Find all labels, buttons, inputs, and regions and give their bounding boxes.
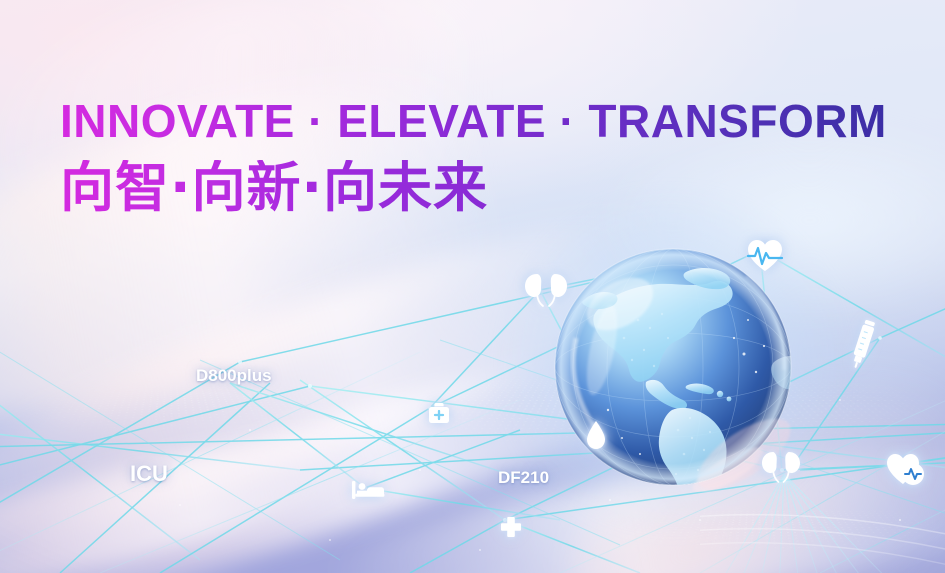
medical-bag-icon (428, 402, 450, 424)
water-drop-icon (585, 420, 607, 450)
promo-banner: INNOVATE · ELEVATE · TRANSFORM 向智·向新·向未来… (0, 0, 945, 573)
headline-chinese: 向智·向新·向未来 (60, 160, 900, 217)
headline-english: INNOVATE · ELEVATE · TRANSFORM (60, 98, 900, 144)
product-label-d800plus: D800plus (196, 366, 272, 386)
product-label-icu: ICU (130, 461, 168, 487)
halftone-mesh (521, 511, 945, 557)
heart-ecg-icon (746, 238, 784, 272)
product-label-df210: DF210 (498, 468, 549, 488)
headline-block: INNOVATE · ELEVATE · TRANSFORM 向智·向新·向未来 (60, 98, 900, 217)
light-streak (0, 15, 601, 486)
medical-cross-icon (500, 516, 522, 538)
vignette-overlay (0, 0, 945, 573)
halftone-mesh (0, 378, 459, 448)
heart-pulse-circle-icon (885, 452, 925, 486)
hospital-bed-icon (351, 478, 385, 500)
kidney-lower-icon (761, 450, 801, 484)
syringe-icon (851, 318, 875, 370)
kidney-icon (524, 272, 568, 308)
network-lines (0, 0, 945, 573)
